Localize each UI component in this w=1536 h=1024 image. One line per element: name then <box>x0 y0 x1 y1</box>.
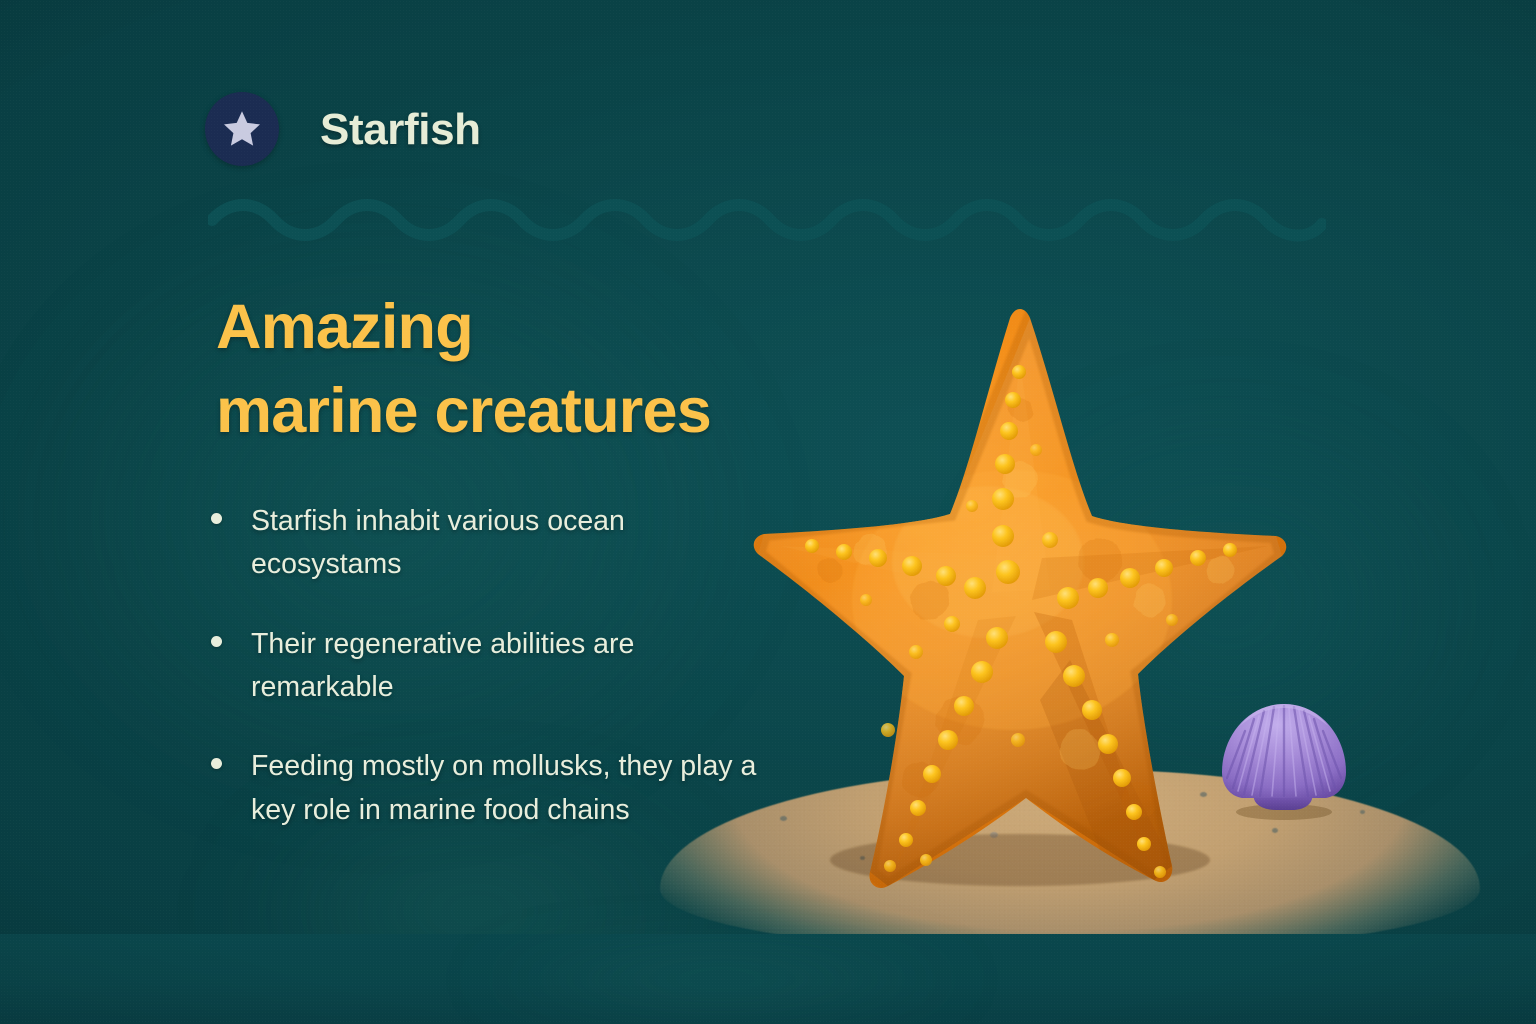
bullet-dot-icon <box>211 758 222 769</box>
list-item: Feeding mostly on mollusks, they play a … <box>205 745 765 832</box>
bullet-list: Starfish inhabit various ocean ecosystam… <box>205 500 765 832</box>
page-title: Amazing marine creatures <box>216 285 916 454</box>
slide-canvas: Starfish Amazing marine creatures Starfi… <box>0 0 1536 1024</box>
bullet-text: Their regenerative abilities are remarka… <box>251 628 634 703</box>
brand-badge <box>205 92 279 166</box>
star-icon <box>221 108 263 150</box>
list-item: Their regenerative abilities are remarka… <box>205 623 765 710</box>
wave-divider <box>208 198 1326 242</box>
headline-line-1: Amazing <box>216 285 916 369</box>
bullet-text: Feeding mostly on mollusks, they play a … <box>251 750 756 825</box>
bullet-dot-icon <box>211 636 222 647</box>
list-item: Starfish inhabit various ocean ecosystam… <box>205 500 765 587</box>
bullet-dot-icon <box>211 513 222 524</box>
brand-title: Starfish <box>320 98 481 162</box>
headline-line-2: marine creatures <box>216 369 916 453</box>
bullet-text: Starfish inhabit various ocean ecosystam… <box>251 505 625 580</box>
